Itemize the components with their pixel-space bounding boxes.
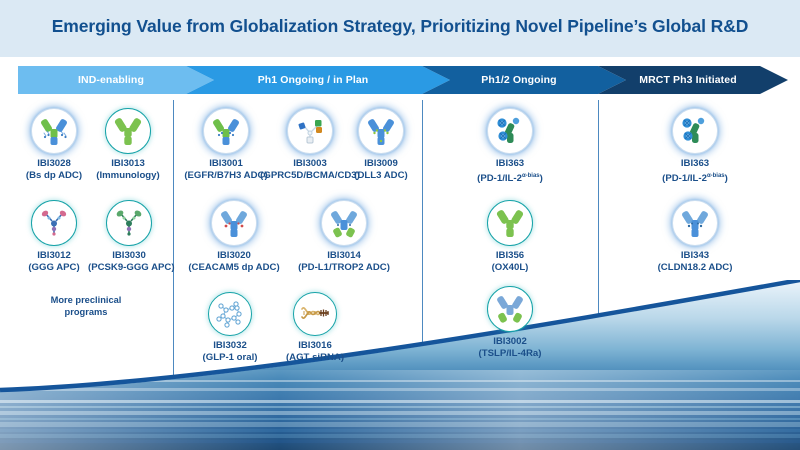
asset-name: IBI3016	[277, 340, 353, 352]
asset-target: (OX40L)	[472, 262, 548, 274]
asset-name: IBI3014	[292, 250, 396, 262]
pipeline-slide: Emerging Value from Globalization Strate…	[0, 0, 800, 450]
asset-target: (PD-1/IL-2α-bias)	[640, 170, 750, 185]
asset-target-post: )	[725, 173, 728, 184]
asset-name: IBI363	[640, 158, 750, 170]
antibody-green-icon	[487, 200, 533, 246]
phase-banner: IND-enabling Ph1 Ongoing / in Plan Ph1/2…	[18, 66, 788, 94]
phase-label: Ph1 Ongoing / in Plan	[258, 74, 379, 86]
asset-target-post: )	[540, 173, 543, 184]
antibody-green-icon	[105, 108, 151, 154]
asset-name: IBI343	[648, 250, 742, 262]
title-band: Emerging Value from Globalization Strate…	[0, 0, 800, 57]
phase-label: MRCT Ph3 Initiated	[639, 74, 746, 86]
asset-target: (TSLP/IL-4Ra)	[462, 348, 558, 360]
asset-target: (CLDN18.2 ADC)	[648, 262, 742, 274]
asset-node-ibi3012[interactable]: IBI3012 (GGG APC)	[18, 200, 90, 274]
phase-chevron-ind[interactable]: IND-enabling	[18, 66, 214, 94]
asset-node-ibi363-ph3[interactable]: IBI363 (PD-1/IL-2α-bias)	[640, 108, 750, 185]
asset-target: (PCSK9-GGG APC)	[88, 262, 170, 274]
more-preclinical-note: More preclinical programs	[26, 294, 146, 318]
more-preclinical-line2: programs	[26, 306, 146, 318]
asset-target: (PD-L1/TROP2 ADC)	[292, 262, 396, 274]
phase-chevron-ph1[interactable]: Ph1 Ongoing / in Plan	[186, 66, 450, 94]
asset-node-ibi3013[interactable]: IBI3013 (Immunology)	[90, 108, 166, 182]
asset-target-superscript: α-bias	[522, 173, 540, 179]
asset-target: (GGG APC)	[18, 262, 90, 274]
small-molecule-icon	[208, 292, 252, 336]
fusion-protein-icon	[487, 108, 533, 154]
antibody-adc-icon	[358, 108, 404, 154]
asset-target: (PD-1/IL-2α-bias)	[455, 170, 565, 185]
apc-conjugate-green-icon	[106, 200, 152, 246]
asset-target: (CEACAM5 dp ADC)	[184, 262, 284, 274]
phase-chevron-ph12[interactable]: Ph1/2 Ongoing	[422, 66, 626, 94]
asset-node-ibi363-ph12[interactable]: IBI363 (PD-1/IL-2α-bias)	[455, 108, 565, 185]
asset-target: (AGT siRNA)	[277, 352, 353, 364]
asset-name: IBI356	[472, 250, 548, 262]
sirna-helix-icon	[293, 292, 337, 336]
asset-name: IBI3002	[462, 336, 558, 348]
asset-target: (Bs dp ADC)	[18, 170, 90, 182]
asset-name: IBI3009	[343, 158, 419, 170]
page-title: Emerging Value from Globalization Strate…	[0, 16, 800, 37]
asset-target: (GLP-1 oral)	[192, 352, 268, 364]
asset-target-pre: (PD-1/IL-2	[477, 173, 522, 184]
more-preclinical-line1: More preclinical	[26, 294, 146, 306]
phase-chevron-mrct[interactable]: MRCT Ph3 Initiated	[598, 66, 788, 94]
phase-label: Ph1/2 Ongoing	[481, 74, 566, 86]
asset-node-ibi3009[interactable]: IBI3009 (DLL3 ADC)	[343, 108, 419, 182]
apc-conjugate-icon	[31, 200, 77, 246]
asset-name: IBI3028	[18, 158, 90, 170]
asset-node-ibi3030[interactable]: IBI3030 (PCSK9-GGG APC)	[88, 200, 170, 274]
antibody-adc-icon	[672, 200, 718, 246]
asset-name: IBI3030	[88, 250, 170, 262]
asset-target-superscript: α-bias	[707, 173, 725, 179]
asset-name: IBI3013	[90, 158, 166, 170]
antibody-bispecific-icon	[487, 286, 533, 332]
asset-name: IBI3032	[192, 340, 268, 352]
asset-target: (DLL3 ADC)	[343, 170, 419, 182]
fusion-protein-icon	[672, 108, 718, 154]
asset-target-pre: (PD-1/IL-2	[662, 173, 707, 184]
asset-node-ibi3028[interactable]: IBI3028 (Bs dp ADC)	[18, 108, 90, 182]
asset-node-ibi3014[interactable]: IBI3014 (PD-L1/TROP2 ADC)	[292, 200, 396, 274]
phase-label: IND-enabling	[78, 74, 154, 86]
asset-name: IBI363	[455, 158, 565, 170]
antibody-bispecific-adc-icon	[203, 108, 249, 154]
asset-node-ibi3002[interactable]: IBI3002 (TSLP/IL-4Ra)	[462, 286, 558, 360]
antibody-bispecific-adc-icon	[31, 108, 77, 154]
asset-target: (Immunology)	[90, 170, 166, 182]
asset-node-ibi3032[interactable]: IBI3032 (GLP-1 oral)	[192, 292, 268, 364]
trispecific-engager-icon	[287, 108, 333, 154]
asset-node-ibi3020[interactable]: IBI3020 (CEACAM5 dp ADC)	[184, 200, 284, 274]
antibody-bispecific-adc-icon	[321, 200, 367, 246]
antibody-dual-payload-icon	[211, 200, 257, 246]
asset-name: IBI3012	[18, 250, 90, 262]
asset-node-ibi343[interactable]: IBI343 (CLDN18.2 ADC)	[648, 200, 742, 274]
asset-name: IBI3020	[184, 250, 284, 262]
asset-node-ibi356[interactable]: IBI356 (OX40L)	[472, 200, 548, 274]
asset-node-ibi3016[interactable]: IBI3016 (AGT siRNA)	[277, 292, 353, 364]
